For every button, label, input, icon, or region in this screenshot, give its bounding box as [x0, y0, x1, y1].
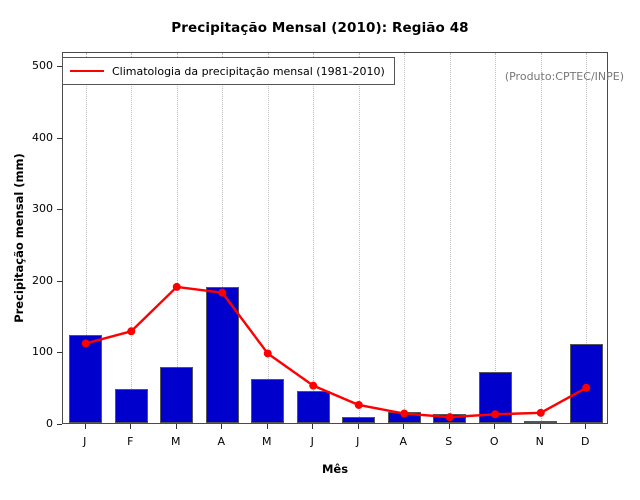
y-tick-mark [57, 209, 62, 210]
x-tick-label-10: N [520, 435, 560, 448]
plot-area [62, 52, 608, 424]
climatology-point-J-6 [355, 401, 363, 409]
x-tick-mark [540, 424, 541, 429]
y-tick-label-0: 0 [9, 417, 53, 430]
chart-title: Precipitação Mensal (2010): Região 48 [0, 20, 640, 36]
climatology-point-M-2 [173, 283, 181, 291]
x-tick-label-8: S [429, 435, 469, 448]
y-tick-label-400: 400 [9, 131, 53, 144]
x-tick-mark [494, 424, 495, 429]
x-tick-mark [585, 424, 586, 429]
climatology-point-D-11 [582, 384, 590, 392]
climatology-point-O-9 [491, 410, 499, 418]
chart-canvas: Precipitação Mensal (2010): Região 48 Pr… [0, 0, 640, 500]
x-tick-mark [358, 424, 359, 429]
climatology-point-F-1 [127, 327, 135, 335]
x-tick-label-1: F [110, 435, 150, 448]
legend-item-label: Climatologia da precipitação mensal (198… [112, 65, 385, 78]
climatology-point-S-8 [446, 413, 454, 421]
climatology-point-J-0 [82, 339, 90, 347]
y-tick-label-200: 200 [9, 274, 53, 287]
y-tick-mark [57, 281, 62, 282]
legend: Climatologia da precipitação mensal (198… [62, 57, 395, 85]
x-tick-mark [85, 424, 86, 429]
climatology-point-A-3 [218, 289, 226, 297]
producer-annotation: (Produto:CPTEC/INPE) [505, 70, 624, 83]
x-tick-label-2: M [156, 435, 196, 448]
x-tick-mark [176, 424, 177, 429]
x-tick-label-3: A [201, 435, 241, 448]
x-tick-mark [312, 424, 313, 429]
x-axis-label: Mês [62, 462, 608, 476]
x-tick-label-4: M [247, 435, 287, 448]
climatology-point-M-4 [264, 349, 272, 357]
y-tick-label-500: 500 [9, 59, 53, 72]
climatology-polyline [86, 287, 587, 417]
x-tick-label-9: O [474, 435, 514, 448]
climatology-point-J-5 [309, 382, 317, 390]
y-tick-label-300: 300 [9, 202, 53, 215]
x-tick-label-11: D [565, 435, 605, 448]
x-tick-label-0: J [65, 435, 105, 448]
x-tick-mark [449, 424, 450, 429]
x-tick-mark [221, 424, 222, 429]
x-tick-label-5: J [292, 435, 332, 448]
y-tick-mark [57, 352, 62, 353]
x-tick-mark [130, 424, 131, 429]
climatology-line-series [63, 53, 609, 425]
x-tick-label-6: J [338, 435, 378, 448]
y-axis-label: Precipitação mensal (mm) [12, 52, 28, 424]
climatology-point-A-7 [400, 410, 408, 418]
x-tick-mark [267, 424, 268, 429]
x-tick-mark [403, 424, 404, 429]
climatology-point-N-10 [537, 409, 545, 417]
y-tick-label-100: 100 [9, 345, 53, 358]
x-tick-label-7: A [383, 435, 423, 448]
y-tick-mark [57, 424, 62, 425]
y-tick-mark [57, 138, 62, 139]
legend-line-swatch-icon [70, 70, 104, 72]
